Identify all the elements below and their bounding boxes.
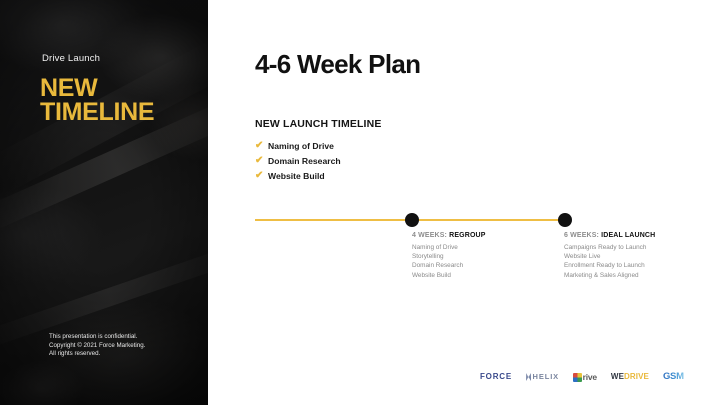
milestone-items: Naming of Drive Storytelling Domain Rese… [412,243,557,280]
list-item: Website Build [412,271,557,280]
check-icon: ✔ [255,171,264,181]
logo-drive-text: rive [583,373,597,382]
list-item: Naming of Drive [412,243,557,252]
footnote-line-2: Copyright © 2021 Force Marketing. [49,342,145,350]
timeline-milestone-dot-1 [405,213,419,227]
milestone-items: Campaigns Ready to Launch Website Live E… [564,243,709,280]
timeline-milestone-dot-2 [558,213,572,227]
milestone-block-regroup: 4 WEEKS: REGROUP Naming of Drive Storyte… [412,232,557,280]
check-icon: ✔ [255,156,264,166]
logo-helix-text: HELIX [533,373,560,381]
logo-drive: rive [573,370,597,384]
section-heading: NEW LAUNCH TIMELINE [255,118,382,130]
checklist: ✔ Naming of Drive ✔ Domain Research ✔ We… [255,138,341,183]
list-item: Storytelling [412,252,557,261]
eyebrow-label: Drive Launch [42,53,100,64]
check-icon: ✔ [255,141,264,151]
milestone-name: IDEAL LAUNCH [601,232,655,239]
list-item: ✔ Naming of Drive [255,138,341,153]
panel-title-line-1: NEW [40,76,154,100]
logo-wedrive-text: WEDRIVE [611,373,649,381]
milestone-weeks: 6 WEEKS: [564,232,601,239]
left-panel: Drive Launch NEW TIMELINE This presentat… [0,0,208,405]
slide: Drive Launch NEW TIMELINE This presentat… [0,0,720,405]
timeline-track [255,212,615,228]
footnote-line-3: All rights reserved. [49,350,145,358]
milestone-block-ideal-launch: 6 WEEKS: IDEAL LAUNCH Campaigns Ready to… [564,232,709,280]
milestone-name: REGROUP [449,232,485,239]
partner-logo-bar: FORCE HELIX rive WEDRIVE GSM [480,369,684,385]
list-item: ✔ Domain Research [255,153,341,168]
logo-force-text: FORCE [480,373,512,381]
list-item-label: Domain Research [268,156,341,166]
logo-wedrive-we: WE [611,372,624,381]
list-item: Domain Research [412,261,557,270]
logo-gsm: GSM [663,370,684,384]
milestone-heading: 6 WEEKS: IDEAL LAUNCH [564,232,709,239]
list-item-label: Naming of Drive [268,141,334,151]
logo-helix: HELIX [526,370,559,384]
list-item: Campaigns Ready to Launch [564,243,709,252]
logo-wedrive: WEDRIVE [611,370,649,384]
list-item: Enrollment Ready to Launch [564,261,709,270]
confidentiality-footnote: This presentation is confidential. Copyr… [49,333,145,358]
milestone-weeks: 4 WEEKS: [412,232,449,239]
footnote-line-1: This presentation is confidential. [49,333,145,341]
drive-mark-icon [573,373,582,382]
helix-mark-icon [526,373,531,381]
logo-wedrive-drive: DRIVE [624,372,649,381]
list-item-label: Website Build [268,171,325,181]
content-area: 4-6 Week Plan NEW LAUNCH TIMELINE ✔ Nami… [208,0,720,405]
logo-force: FORCE [480,370,512,384]
milestone-heading: 4 WEEKS: REGROUP [412,232,557,239]
logo-gsm-text: GSM [663,372,684,382]
panel-title-line-2: TIMELINE [40,100,154,124]
page-title: 4-6 Week Plan [255,49,420,80]
list-item: ✔ Website Build [255,168,341,183]
list-item: Marketing & Sales Aligned [564,271,709,280]
list-item: Website Live [564,252,709,261]
panel-title: NEW TIMELINE [40,76,154,124]
